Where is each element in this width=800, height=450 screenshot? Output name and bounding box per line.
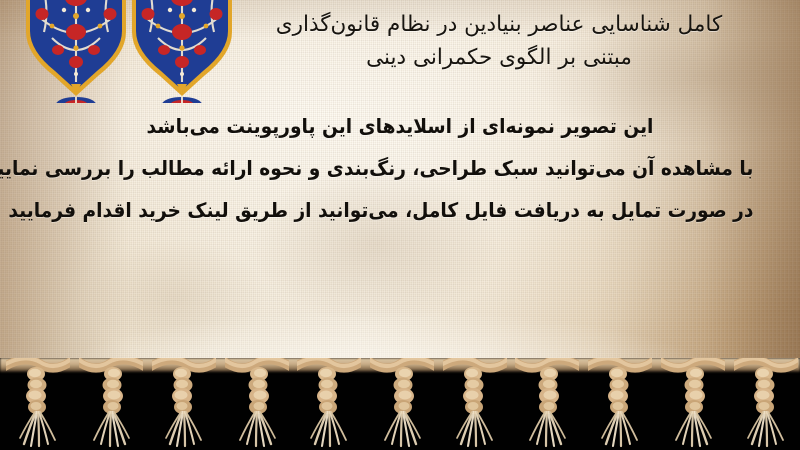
fringe-knot <box>370 358 434 448</box>
slide-title-line-2: مبتنی بر الگوی حکمرانی دینی <box>234 41 764 74</box>
carpet-fringe-border <box>0 358 800 450</box>
slide-title-line-1: کامل شناسایی عناصر بنیادین در نظام قانون… <box>234 8 764 41</box>
persian-carpet-medallion-pendant-icon <box>22 0 130 103</box>
fringe-knot <box>443 358 507 448</box>
fringe-knot <box>6 358 70 448</box>
slide-body-line-3: در صورت تمایل به دریافت فایل کامل، می‌تو… <box>47 192 754 228</box>
fringe-knot <box>588 358 652 448</box>
fringe-knot <box>297 358 361 448</box>
slide-body-line-2: با مشاهده آن می‌توانید سبک طراحی، رنگ‌بن… <box>47 150 754 186</box>
persian-carpet-medallion-pendant-icon <box>128 0 236 103</box>
slide-title: کامل شناسایی عناصر بنیادین در نظام قانون… <box>234 8 764 74</box>
medallion-pendant-upper <box>160 97 204 103</box>
medallion-pendant-upper <box>54 97 98 103</box>
medallion-motif-group <box>0 0 260 120</box>
fringe-knot <box>734 358 798 448</box>
slide-body-text: این تصویر نمونه‌ای از اسلایدهای این پاور… <box>20 108 780 228</box>
fringe-knot <box>661 358 725 448</box>
slide-body-line-1: این تصویر نمونه‌ای از اسلایدهای این پاور… <box>47 108 754 144</box>
fringe-knot <box>79 358 143 448</box>
fringe-knot <box>515 358 579 448</box>
fringe-knot-row <box>0 358 800 450</box>
fringe-knot <box>152 358 216 448</box>
slide-canvas: کامل شناسایی عناصر بنیادین در نظام قانون… <box>0 0 800 450</box>
fringe-knot <box>225 358 289 448</box>
